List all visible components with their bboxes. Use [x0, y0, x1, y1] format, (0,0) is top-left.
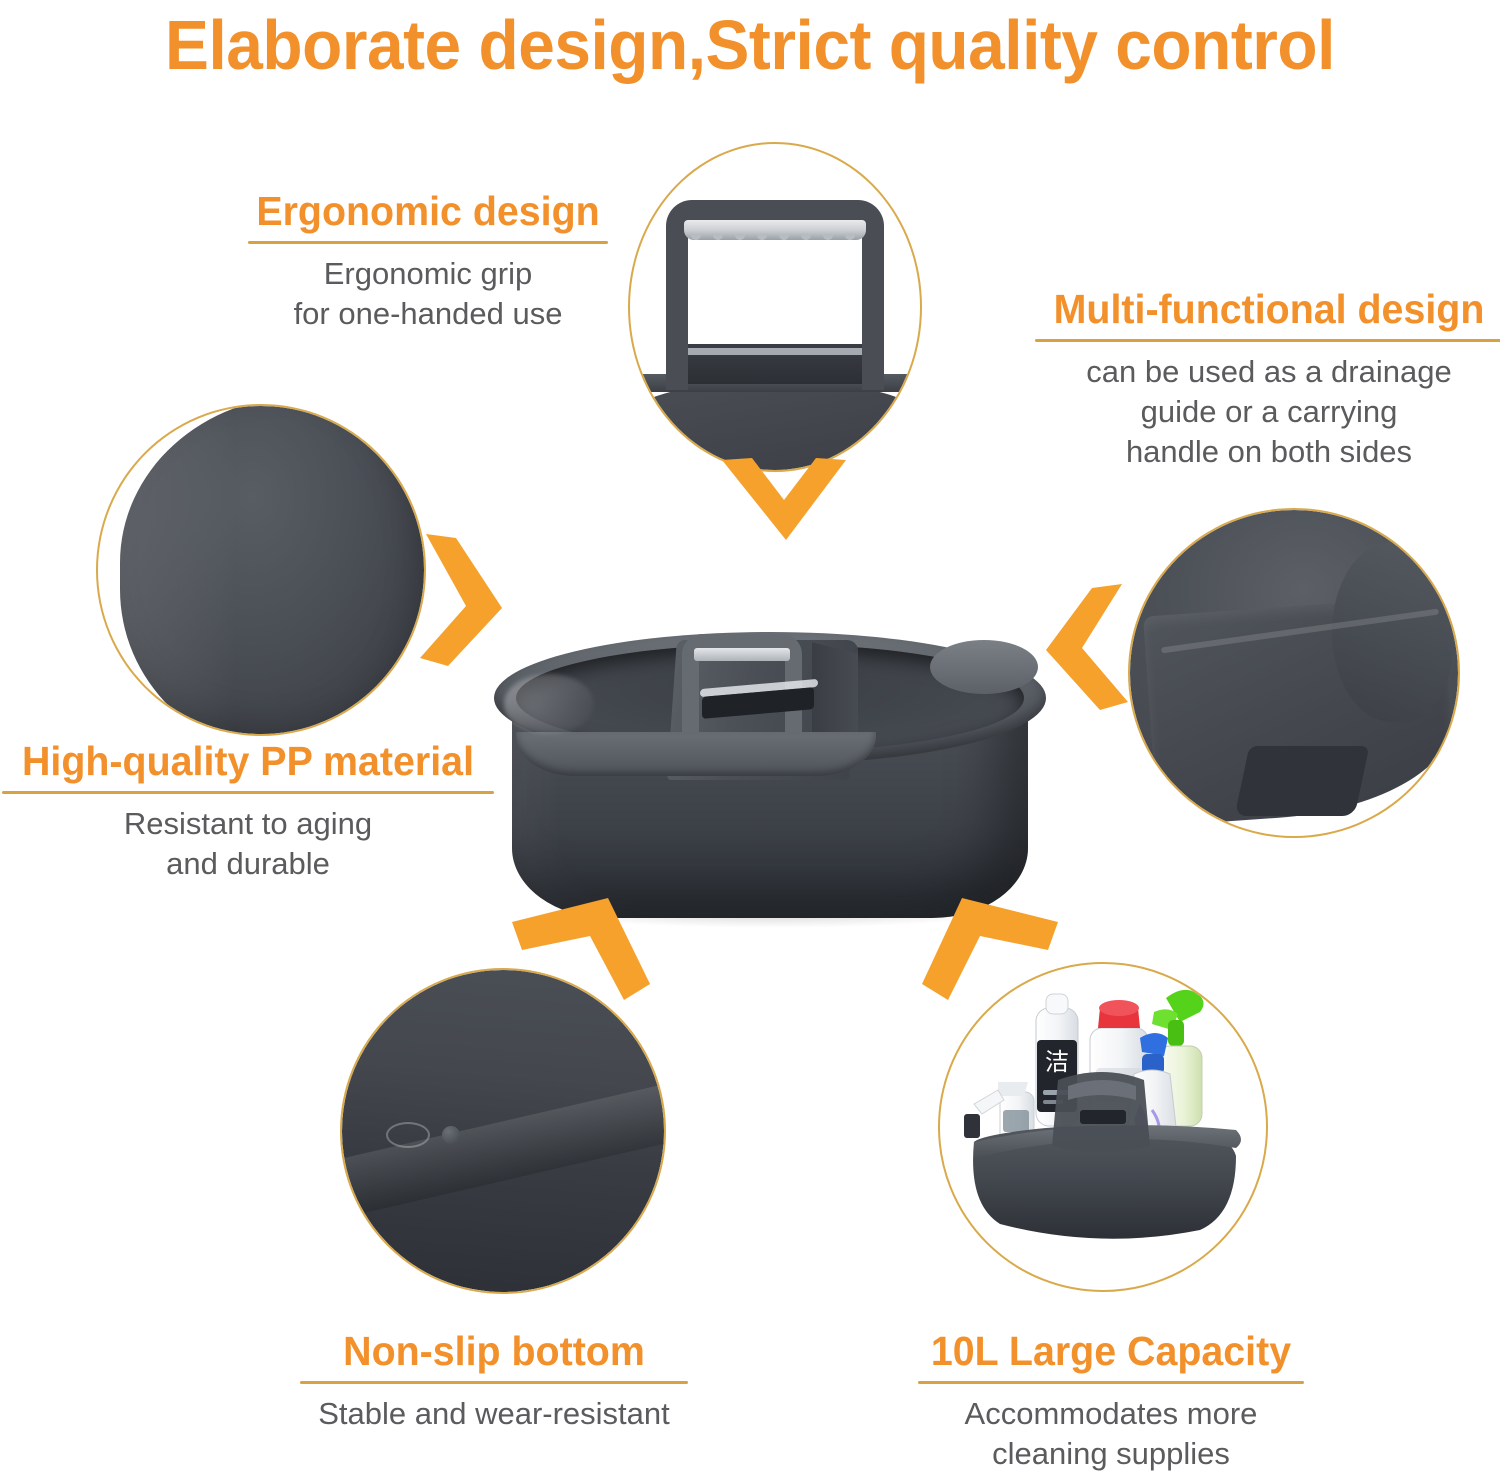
detail-circle-pp-material: [96, 404, 426, 736]
detail-circle-drainage: [1128, 508, 1460, 838]
callout-body-line: Accommodates more: [918, 1394, 1304, 1434]
arrow-right-icon: [404, 534, 502, 666]
callout-body-line: for one-handed use: [248, 294, 608, 334]
caddy-wall-shape: [630, 380, 920, 470]
finger-grip-ridges: [684, 220, 866, 240]
callout-body: Stable and wear-resistant: [300, 1394, 688, 1434]
mold-oval-mark: [386, 1122, 430, 1148]
callout-body: Accommodates more cleaning supplies: [918, 1394, 1304, 1474]
caddy-front-lip: [516, 732, 876, 776]
callout-heading: High-quality PP material: [12, 738, 484, 784]
svg-text:洁: 洁: [1045, 1048, 1069, 1076]
callout-heading: Ergonomic design: [255, 188, 601, 234]
callout-large-capacity: 10L Large Capacity Accommodates more cle…: [918, 1328, 1304, 1474]
callout-body: Resistant to aging and durable: [2, 804, 494, 884]
callout-underline: [2, 791, 494, 794]
callout-body: Ergonomic grip for one-handed use: [248, 254, 608, 334]
callout-body: can be used as a drainage guide or a car…: [1035, 352, 1500, 472]
callout-body-line: can be used as a drainage: [1035, 352, 1500, 392]
callout-body-line: cleaning supplies: [918, 1434, 1304, 1474]
pp-material-closeup-image: [98, 406, 424, 734]
callout-underline: [300, 1381, 688, 1384]
callout-underline: [1035, 339, 1500, 342]
detail-circle-handle: [628, 142, 922, 472]
drainage-spout-shape: [1332, 542, 1452, 722]
callout-underline: [918, 1381, 1304, 1384]
mold-dot-mark: [442, 1126, 460, 1144]
arrow-down-icon: [722, 458, 846, 540]
callout-body-line: Ergonomic grip: [248, 254, 608, 294]
arrow-up-right-icon: [922, 898, 1058, 1000]
caddy-drain-notch: [930, 640, 1038, 694]
callout-underline: [248, 241, 608, 244]
supplies-illustration: 洁: [940, 964, 1266, 1290]
product-image-cleaning-caddy: [494, 556, 1050, 934]
callout-non-slip-bottom: Non-slip bottom Stable and wear-resistan…: [300, 1328, 688, 1434]
handle-closeup-image: [630, 144, 920, 470]
callout-ergonomic-design: Ergonomic design Ergonomic grip for one-…: [248, 188, 608, 334]
callout-body-line: guide or a carrying: [1035, 392, 1500, 432]
detail-circle-non-slip-bottom: [340, 968, 666, 1294]
callout-heading: Multi-functional design: [1044, 286, 1493, 332]
caddy-handle-grip: [694, 648, 790, 661]
infographic-canvas: Elaborate design,Strict quality control: [0, 0, 1500, 1445]
callout-body-line: and durable: [2, 844, 494, 884]
arrow-left-icon: [1046, 584, 1142, 710]
non-slip-bottom-closeup-image: [342, 970, 664, 1292]
caddy-with-supplies-image: 洁: [940, 964, 1266, 1290]
callout-multi-functional-design: Multi-functional design can be used as a…: [1035, 286, 1500, 472]
callout-body-line: handle on both sides: [1035, 432, 1500, 472]
callout-pp-material: High-quality PP material Resistant to ag…: [2, 738, 494, 884]
page-title: Elaborate design,Strict quality control: [45, 4, 1455, 86]
arrow-up-left-icon: [512, 898, 650, 1000]
drainage-guide-closeup-image: [1130, 510, 1458, 836]
detail-circle-capacity: 洁: [938, 962, 1268, 1292]
caddy-foot-shape: [1235, 746, 1370, 816]
caddy-highlight: [504, 674, 594, 734]
callout-heading: 10L Large Capacity: [926, 1328, 1297, 1374]
callout-body-line: Stable and wear-resistant: [300, 1394, 688, 1434]
edge-highlight: [116, 406, 236, 734]
callout-heading: Non-slip bottom: [308, 1328, 680, 1374]
callout-body-line: Resistant to aging: [2, 804, 494, 844]
